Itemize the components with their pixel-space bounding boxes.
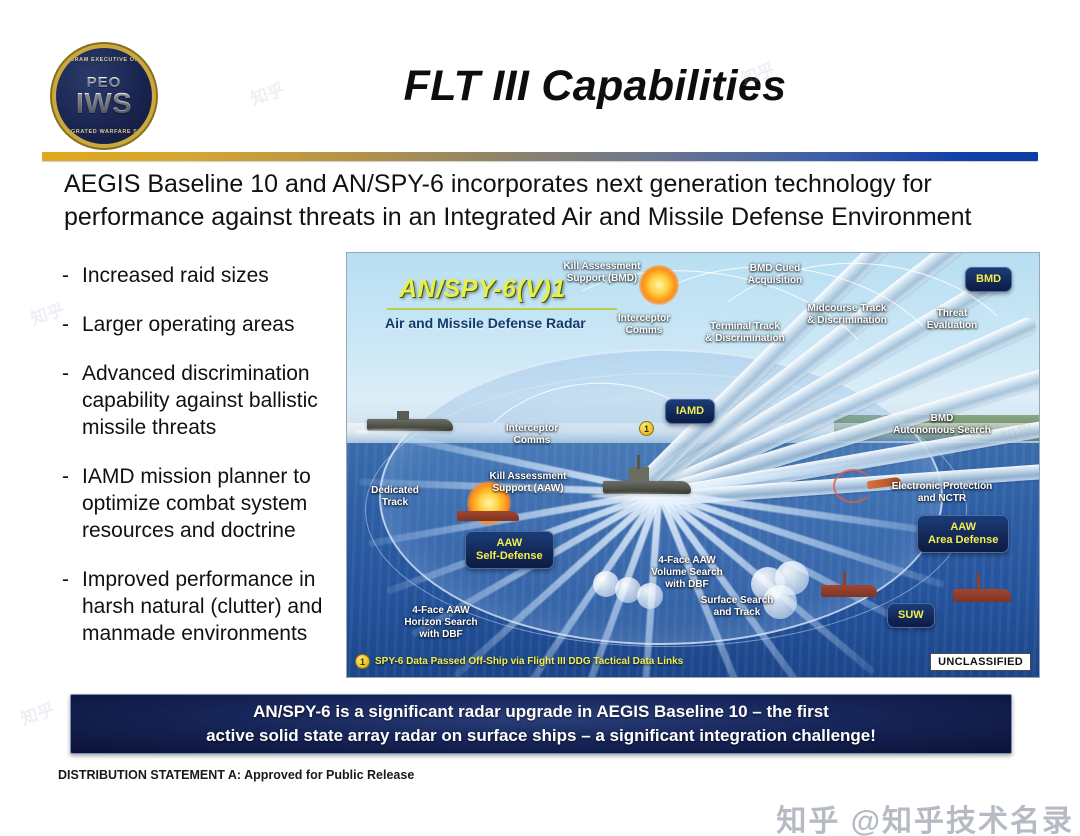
faint-watermark: 知乎 xyxy=(17,695,57,729)
radar-capability-diagram: AN/SPY-6(V)1 Air and Missile Defense Rad… xyxy=(346,252,1040,678)
list-item: - Increased raid sizes xyxy=(62,262,352,289)
badge-bmd[interactable]: BMD xyxy=(965,267,1012,292)
badge-aaw-area-defense[interactable]: AAW Area Defense xyxy=(917,515,1009,553)
bullet-marker: - xyxy=(62,463,82,490)
radar-name-underline xyxy=(387,308,617,310)
list-item: - Larger operating areas xyxy=(62,311,352,338)
label-terminal-track: Terminal Track & Discrimination xyxy=(687,321,803,345)
surface-contact-ship-2 xyxy=(953,589,1011,602)
bullet-label: IAMD mission planner to optimize combat … xyxy=(82,463,352,544)
list-item: - Improved performance in harsh natural … xyxy=(62,566,352,647)
label-interceptor-comms-mid: Interceptor Comms xyxy=(487,423,577,447)
label-kill-assessment-aaw: Kill Assessment Support (AAW) xyxy=(465,471,591,495)
classification-marking: UNCLASSIFIED xyxy=(930,653,1031,671)
logo-ring-bottom-text: INTEGRATED WARFARE SYSTEMS xyxy=(56,129,152,135)
distribution-statement: DISTRIBUTION STATEMENT A: Approved for P… xyxy=(58,768,414,782)
footnote-text: SPY-6 Data Passed Off-Ship via Flight II… xyxy=(375,656,683,667)
surface-contact-ship-1 xyxy=(821,585,877,597)
surface-contact-mast-2 xyxy=(977,573,980,590)
label-dedicated-track: Dedicated Track xyxy=(353,485,437,509)
logo-iws-text: IWS xyxy=(76,91,132,118)
label-midcourse-track: Midcourse Track & Discrimination xyxy=(789,303,905,327)
label-electronic-protection-nctr: Electronic Protection and NCTR xyxy=(867,481,1017,505)
list-item: - Advanced discrimination capability aga… xyxy=(62,360,352,441)
badge-suw[interactable]: SUW xyxy=(887,603,935,628)
bullet-label: Increased raid sizes xyxy=(82,262,352,289)
ddg-mast xyxy=(637,455,640,469)
key-message-banner: AN/SPY-6 is a significant radar upgrade … xyxy=(70,694,1012,754)
carrier-island xyxy=(397,411,409,420)
header-divider xyxy=(42,152,1038,161)
bullet-label: Larger operating areas xyxy=(82,311,352,338)
label-kill-assessment-bmd: Kill Assessment Support (BMD) xyxy=(547,261,657,285)
ddg-wake xyxy=(591,493,703,499)
bullet-label: Improved performance in harsh natural (c… xyxy=(82,566,352,647)
bullet-marker: - xyxy=(62,566,82,593)
surface-contact-ship-3 xyxy=(457,511,519,521)
label-volume-search: 4-Face AAW Volume Search with DBF xyxy=(635,555,739,591)
ddg-superstructure xyxy=(629,467,649,482)
list-item: - IAMD mission planner to optimize comba… xyxy=(62,463,352,544)
label-horizon-search: 4-Face AAW Horizon Search with DBF xyxy=(389,605,493,641)
label-threat-evaluation: Threat Evaluation xyxy=(907,308,997,332)
bullet-label: Advanced discrimination capability again… xyxy=(82,360,352,441)
bullet-marker: - xyxy=(62,311,82,338)
source-watermark: 知乎 @知乎技术名录 xyxy=(776,796,1074,836)
label-surface-search: Surface Search and Track xyxy=(683,595,791,619)
bullet-marker: - xyxy=(62,360,82,387)
label-bmd-cued-acquisition: BMD Cued Acquisition xyxy=(725,263,825,287)
label-interceptor-comms-top: Interceptor Comms xyxy=(599,313,689,337)
bullet-marker: - xyxy=(62,262,82,289)
logo-ring-top-text: PROGRAM EXECUTIVE OFFICE xyxy=(56,57,152,63)
radar-name-label: AN/SPY-6(V)1 xyxy=(399,275,566,304)
page-title: FLT III Capabilities xyxy=(180,62,1010,111)
capability-bullet-list: - Increased raid sizes - Larger operatin… xyxy=(62,262,352,669)
key-message-text: AN/SPY-6 is a significant radar upgrade … xyxy=(206,700,876,748)
badge-iamd[interactable]: IAMD xyxy=(665,399,715,424)
radar-subname-label: Air and Missile Defense Radar xyxy=(385,315,586,331)
footnote-marker: 1 xyxy=(355,654,370,669)
slide-header: PROGRAM EXECUTIVE OFFICE PEO IWS INTEGRA… xyxy=(0,0,1080,150)
center-data-link-marker: 1 xyxy=(639,421,654,436)
badge-aaw-self-defense[interactable]: AAW Self-Defense xyxy=(465,531,554,569)
subtitle-text: AEGIS Baseline 10 and AN/SPY-6 incorpora… xyxy=(64,168,1014,234)
diagram-footnote: 1 SPY-6 Data Passed Off-Ship via Flight … xyxy=(355,654,683,669)
surface-contact-mast-1 xyxy=(843,571,846,586)
label-bmd-autonomous-search: BMD Autonomous Search xyxy=(871,413,1013,437)
peo-iws-logo: PROGRAM EXECUTIVE OFFICE PEO IWS INTEGRA… xyxy=(56,48,152,144)
carrier-wake xyxy=(355,429,459,434)
